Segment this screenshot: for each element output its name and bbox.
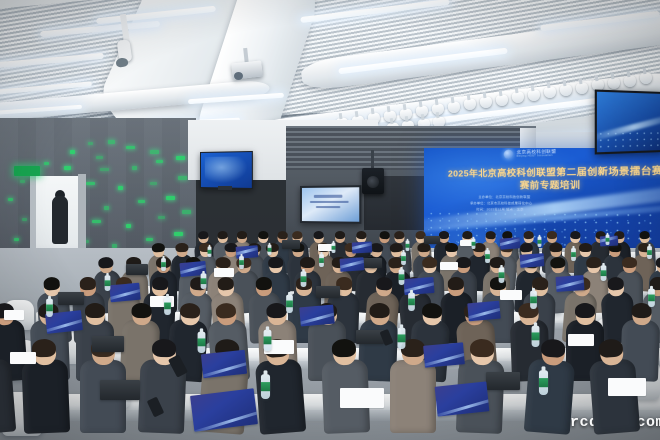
wall-led-indicator (150, 150, 159, 154)
audience-hair (268, 257, 283, 268)
booklet-light-streak (109, 288, 140, 302)
audience-hair (598, 338, 624, 358)
water-bottle (264, 330, 272, 351)
booklet-light-streak (340, 259, 365, 270)
water-bottle (164, 297, 171, 315)
audience-hair (445, 243, 457, 252)
paper-sheet[interactable] (568, 334, 594, 346)
program-booklet[interactable] (556, 275, 585, 292)
water-bottle (399, 269, 405, 285)
wall-led-indicator (86, 182, 95, 185)
water-bottle (485, 250, 490, 263)
audience-hair (422, 257, 437, 268)
wall-led-indicator (156, 160, 163, 163)
wall-led-indicator (118, 186, 123, 190)
wall-led-indicator (64, 166, 71, 170)
wall-led-indicator (100, 168, 109, 171)
audience-hair (586, 257, 601, 268)
side-monitor-text-2 (310, 201, 349, 203)
audience-hair (176, 243, 189, 253)
laptop[interactable] (58, 292, 84, 305)
audience-hair (255, 277, 272, 290)
wall-led-indicator (146, 238, 153, 241)
water-bottle (406, 241, 410, 251)
wall-led-indicator (178, 176, 187, 180)
audience-hair (550, 243, 563, 253)
wall-led-indicator (174, 232, 183, 236)
water-bottle (301, 271, 307, 287)
wall-led-indicator (126, 224, 131, 228)
water-bottle (268, 245, 272, 255)
water-bottle (286, 295, 293, 313)
water-bottle (261, 374, 270, 399)
screen-body-line-2: 承办单位：北京市高校科技成果转化中心 (470, 200, 532, 205)
audience-hair (656, 257, 660, 268)
audience-torso (21, 359, 70, 434)
water-bottle (201, 273, 207, 289)
program-booklet[interactable] (520, 253, 545, 268)
projector-lens-icon (234, 72, 243, 80)
exit-sign-icon (14, 166, 40, 176)
audience-hair (422, 302, 443, 319)
booklet-light-streak (352, 242, 373, 251)
wall-led-indicator (104, 206, 109, 210)
water-bottle (499, 267, 505, 283)
wall-monitor-left (200, 151, 253, 189)
audience-hair (43, 277, 61, 291)
speaker-cone-icon (367, 176, 379, 188)
booklet-light-streak (500, 238, 521, 248)
audience-hair (335, 231, 346, 239)
water-bottle (538, 237, 542, 247)
audience-hair (369, 303, 390, 319)
wall-led-indicator (88, 142, 93, 145)
program-booklet[interactable] (435, 381, 490, 416)
audience-hair (258, 231, 269, 239)
water-bottle (408, 293, 415, 311)
audience-hair (98, 257, 113, 269)
water-bottle (648, 289, 655, 307)
conference-hall-photo: 北京高校科创联盟 Beijing HS&T Innovation 2025年北京… (0, 0, 660, 440)
paper-sheet[interactable] (4, 310, 24, 320)
audience-hair (622, 257, 636, 268)
audience-hair (447, 277, 464, 290)
audience-hair (180, 302, 201, 319)
program-booklet[interactable] (340, 257, 365, 272)
water-bottle (530, 291, 537, 309)
paper-sheet[interactable] (608, 378, 646, 396)
wall-led-indicator (44, 162, 49, 165)
water-bottle (647, 246, 652, 259)
audience-hair (79, 277, 96, 290)
audience-hair (151, 277, 168, 290)
program-booklet[interactable] (423, 342, 465, 367)
audience-torso (589, 358, 641, 435)
paper-sheet[interactable] (214, 268, 234, 277)
screen-body-line-3: 时间：2025年11月 地点：北京 (476, 206, 523, 211)
wall-led-indicator (20, 180, 25, 183)
screen-logo: 北京高校科创联盟 Beijing HS&T Innovation (504, 148, 577, 159)
water-bottle (319, 254, 324, 267)
program-booklet[interactable] (467, 301, 500, 322)
water-bottle (332, 243, 336, 253)
laptop[interactable] (486, 372, 520, 390)
audience-hair (570, 231, 581, 239)
program-booklet[interactable] (500, 237, 521, 249)
wall-led-indicator (92, 220, 101, 223)
laptop[interactable] (92, 336, 124, 352)
side-monitor-front-left (300, 185, 361, 224)
wall-led-indicator (166, 196, 175, 200)
wall-led-indicator (8, 198, 13, 201)
program-booklet[interactable] (109, 283, 140, 303)
audience-hair (152, 338, 177, 357)
laptop[interactable] (100, 380, 140, 400)
audience-hair (266, 303, 287, 319)
program-booklet[interactable] (352, 241, 373, 253)
paper-sheet[interactable] (440, 262, 458, 270)
audience-hair (485, 231, 496, 240)
wall-led-indicator (96, 156, 103, 159)
audience-torso (524, 358, 576, 435)
paper-sheet[interactable] (500, 290, 522, 300)
side-monitor-text-1 (314, 195, 343, 198)
program-booklet[interactable] (201, 350, 247, 378)
laptop[interactable] (362, 258, 382, 268)
audience-hair (216, 257, 231, 269)
booklet-light-streak (299, 311, 335, 326)
screen-logo-subtitle: Beijing HS&T Innovation (517, 154, 557, 158)
audience-hair (575, 303, 595, 318)
water-bottle (401, 252, 406, 265)
audience-hair (547, 231, 558, 239)
audience-hair (356, 231, 367, 239)
wall-led-indicator (150, 182, 157, 185)
laptop[interactable] (424, 236, 440, 244)
booklet-light-streak (556, 278, 585, 290)
paper-sheet[interactable] (340, 388, 384, 408)
water-bottle (239, 256, 244, 269)
audience-hair (300, 257, 314, 268)
audience-hair (418, 243, 431, 253)
side-monitor-text-3 (316, 206, 340, 208)
wall-led-indicator (132, 166, 137, 170)
water-bottle (208, 247, 212, 257)
wall-led-indicator (138, 200, 145, 203)
water-bottle (571, 248, 576, 261)
monitor-left-bracket (218, 186, 232, 190)
audience-hair (215, 302, 236, 319)
wall-led-indicator (176, 156, 185, 160)
laptop[interactable] (316, 286, 340, 298)
speaker-mount (371, 150, 374, 170)
paper-sheet[interactable] (10, 352, 36, 364)
audience-hair (579, 243, 591, 252)
water-bottle (161, 258, 166, 271)
water-bottle (532, 326, 540, 347)
water-bottle (601, 265, 607, 281)
water-bottle (398, 328, 406, 349)
screen-body-line-1: 主办单位：北京高校科技创新联盟 (478, 194, 530, 199)
audience-hair (456, 257, 470, 268)
laptop[interactable] (126, 264, 148, 275)
water-bottle (105, 275, 111, 291)
water-bottle (46, 299, 53, 317)
audience-torso (390, 360, 436, 434)
audience-hair (540, 338, 566, 358)
water-bottle (606, 235, 610, 245)
water-bottle (472, 239, 476, 249)
audience-hair (550, 257, 565, 269)
wall-monitor-right (595, 89, 660, 154)
person-in-doorway (52, 196, 68, 244)
audience-hair (131, 303, 152, 319)
wall-led-indicator (108, 140, 115, 144)
monitor-right-particles (597, 130, 660, 154)
booklet-light-streak (467, 306, 500, 320)
audience-hair (607, 277, 625, 291)
audience-member (138, 339, 188, 440)
audience-member (523, 338, 576, 440)
audience-hair (439, 231, 450, 239)
wall-led-indicator (14, 238, 19, 241)
laptop[interactable] (282, 240, 300, 249)
wall-led-indicator (70, 150, 75, 154)
audience-hair (85, 303, 105, 318)
monitor-left-glow (205, 156, 248, 183)
wall-led-indicator (158, 216, 165, 219)
audience-hair (331, 338, 356, 357)
audience-hair (375, 277, 393, 291)
audience-hair (237, 231, 248, 239)
alliance-logo-icon (504, 149, 514, 159)
booklet-light-streak (520, 255, 545, 266)
wall-led-indicator (22, 218, 27, 221)
program-booklet[interactable] (299, 305, 335, 327)
audience-hair (217, 277, 235, 291)
water-bottle (198, 332, 206, 353)
audience-hair (470, 338, 495, 357)
wall-led-indicator (182, 210, 191, 214)
water-bottle (539, 370, 548, 395)
wall-led-indicator (126, 146, 135, 149)
screen-title-line-2: 赛前专题培训 (432, 177, 660, 192)
